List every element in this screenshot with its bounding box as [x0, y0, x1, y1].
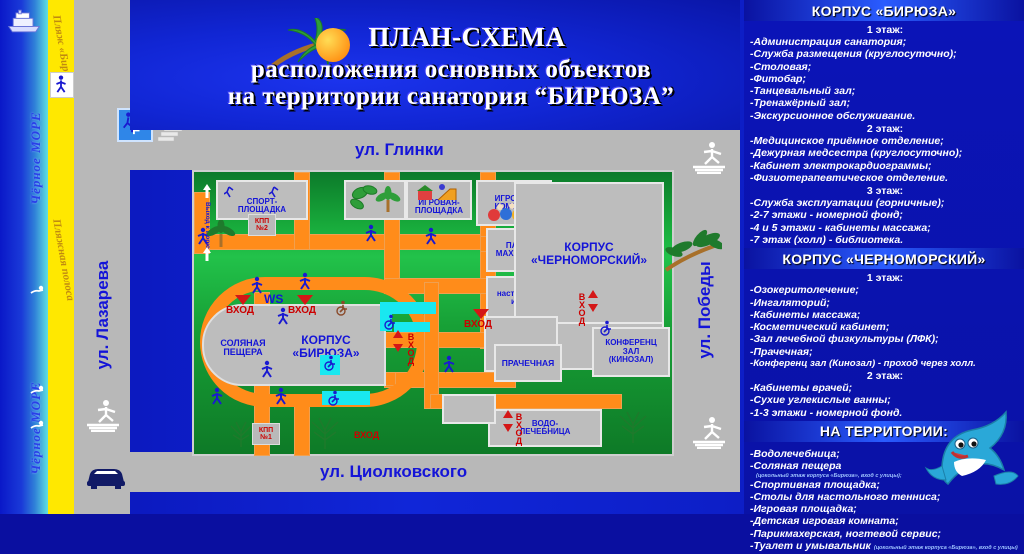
- list-item: -Детская игровая комната;: [750, 515, 1020, 527]
- ws-label: WS: [264, 292, 283, 306]
- kpp-label: №1: [260, 434, 272, 441]
- pedestrian-icon: [298, 272, 312, 290]
- list-item: -7 этаж (холл) - библиотека.: [750, 234, 1020, 246]
- list-item: -Тренажёрный зал;: [750, 97, 1020, 109]
- arrow-lr-icon: [502, 410, 514, 432]
- building-hydrotherapy-annex[interactable]: [442, 394, 496, 424]
- crosswalk-icon: [84, 398, 122, 432]
- street-label-top: ул. Глинки: [355, 140, 444, 160]
- site-map: СПОРТ- ПЛОЩАДКА ИГРОВАЯ- ПЛОЩАДКА ИГРОВА…: [192, 170, 674, 456]
- list-item: -Кабинеты массажа;: [750, 309, 1020, 321]
- list-item: -Зал лечебной физкультуры (ЛФК);: [750, 333, 1020, 345]
- path-segment: [194, 234, 496, 250]
- building-label: ЛЕЧЕБНИЦА: [520, 428, 571, 436]
- poster-title-line1: ПЛАН-СХЕМА: [162, 22, 772, 53]
- section-title: КОРПУС «ЧЕРНОМОРСКИЙ»: [782, 251, 985, 267]
- list-item: -Парикмахерская, ногтевой сервис;: [750, 528, 1020, 540]
- list-item: -Медицинское приёмное отделение;: [750, 135, 1020, 147]
- list-item: -Озокеритолечение;: [750, 284, 1020, 296]
- panel-section-title-biryuza: КОРПУС «БИРЮЗА»: [744, 0, 1024, 21]
- list-item-note: (цокольный этаж корпуса «Бирюза», вход с…: [871, 545, 1018, 551]
- pedestrian-sign: [50, 72, 74, 98]
- crosswalk-icon: [690, 415, 728, 449]
- list-item: -Столовая;: [750, 61, 1020, 73]
- panel-section-body-biryuza: 1 этаж: -Администрация санатория; -Служб…: [744, 21, 1024, 248]
- bush-icon: [224, 418, 258, 448]
- building-green-plants[interactable]: [344, 180, 406, 220]
- list-item: -Прачечная;: [750, 346, 1020, 358]
- kpp-label: №2: [256, 225, 268, 232]
- list-item: -Служба эксплуатации (горничные);: [750, 197, 1020, 209]
- swimmer-icon: [30, 285, 46, 297]
- list-item: -Косметический кабинет;: [750, 321, 1020, 333]
- floor-label: 2 этаж:: [750, 122, 1020, 135]
- entrance-label: ВХОД: [577, 292, 587, 324]
- car-icon: [84, 462, 128, 492]
- pedestrian-icon: [442, 355, 456, 373]
- pedestrian-icon: [210, 387, 224, 405]
- building-label: ПЕЩЕРА: [223, 348, 262, 357]
- arrow-down-icon: [234, 294, 252, 306]
- poster-header: ПЛАН-СХЕМА расположения основных объекто…: [130, 0, 740, 130]
- floor-label: 1 этаж:: [750, 271, 1020, 284]
- floor-label: 2 этаж:: [750, 369, 1020, 382]
- building-label: (КИНОЗАЛ): [609, 356, 653, 364]
- palm-small-icon: [206, 220, 236, 248]
- panel-section-body-chernomorsky: 1 этаж: -Озокеритолечение; -Ингаляторий;…: [744, 269, 1024, 421]
- arrow-lr-icon: [587, 290, 599, 312]
- entrance-label: ВХОД: [354, 430, 379, 440]
- bush-icon: [304, 416, 346, 450]
- list-item: -Администрация санатория;: [750, 36, 1020, 48]
- list-item: -Служба размещения (круглосуточно);: [750, 48, 1020, 60]
- pedestrian-icon: [424, 227, 438, 245]
- swimmer-icon: [30, 420, 46, 432]
- building-laundry[interactable]: ПРАЧЕЧНАЯ: [494, 344, 562, 382]
- section-title: КОРПУС «БИРЮЗА»: [812, 3, 956, 19]
- pedestrian-icon: [250, 276, 264, 294]
- palm-tree-icon: [660, 212, 722, 274]
- list-item: -Ингаляторий;: [750, 297, 1020, 309]
- entrance-label: ВХОД: [514, 412, 524, 444]
- building-label: ПЛОЩАДКА: [415, 207, 463, 215]
- list-item: -Дежурная медсестра (круглосуточно);: [750, 147, 1020, 159]
- list-item: -Кабинеты врачей;: [750, 382, 1020, 394]
- kpp-label: КПП: [255, 218, 269, 225]
- wheelchair-icon: [598, 320, 614, 336]
- list-item: -Сухие углекислые ванны;: [750, 394, 1020, 406]
- ship-icon: [6, 8, 42, 34]
- list-item: -Конференц зал (Кинозал) - проход через …: [750, 358, 1020, 369]
- list-item: -Экскурсионное обслуживание.: [750, 110, 1020, 122]
- poster-title-line2: расположения основных объектов: [146, 56, 756, 84]
- list-item: -Туалет и умывальник(цокольный этаж корп…: [750, 540, 1020, 552]
- arrow-down-icon: [296, 294, 314, 306]
- pedestrian-icon: [364, 224, 378, 242]
- entrance-label: ВХОД: [406, 332, 416, 364]
- arrow-up-icon: [202, 247, 212, 261]
- pedestrian-icon: [260, 360, 274, 378]
- list-item: -Физиотерапевтическое отделение.: [750, 172, 1020, 184]
- wheelchair-icon: [326, 390, 342, 406]
- list-item: -4 и 5 этажи - кабинеты массажа;: [750, 222, 1020, 234]
- list-item: -Танцевальный зал;: [750, 85, 1020, 97]
- arrow-lr-icon: [392, 330, 404, 352]
- poster-title-line3: на территории санатория “БИРЮЗА”: [146, 83, 756, 111]
- crosswalk-icon: [690, 140, 728, 174]
- building-label: «ЧЕРНОМОРСКИЙ»: [531, 254, 647, 267]
- info-panel: КОРПУС «БИРЮЗА» 1 этаж: -Администрация с…: [744, 0, 1024, 514]
- swimmer-icon: [30, 385, 46, 397]
- entrance-label: ВХОД: [288, 305, 316, 316]
- list-item-text: -Туалет и умывальник: [750, 540, 871, 552]
- bush-icon: [612, 410, 654, 444]
- panel-section-title-chernomorsky: КОРПУС «ЧЕРНОМОРСКИЙ»: [744, 248, 1024, 269]
- road-lazareva: [74, 0, 130, 514]
- arrow-up-icon: [202, 184, 212, 198]
- black-sea-strip: Чёрное МОРЕ Чёрное МОРЕ: [0, 0, 48, 514]
- floor-label: 3 этаж:: [750, 184, 1020, 197]
- entrance-label: ВХОД: [226, 305, 254, 316]
- floor-label: 1 этаж:: [750, 23, 1020, 36]
- kpp-2[interactable]: КПП №2: [248, 214, 276, 236]
- street-label-bottom: ул. Циолковского: [320, 462, 467, 482]
- street-label-left: ул. Лазарева: [93, 260, 113, 370]
- pedestrian-icon: [276, 307, 290, 325]
- building-label: ПРАЧЕЧНАЯ: [502, 359, 555, 368]
- pedestrian-icon: [274, 387, 288, 405]
- arrow-down-icon: [472, 308, 490, 320]
- list-item: -Фитобар;: [750, 73, 1020, 85]
- list-item: -Кабинет электрокардиограммы;: [750, 160, 1020, 172]
- wheelchair-icon: [334, 300, 350, 316]
- entrance-label: ВХОД: [464, 319, 492, 330]
- wheelchair-icon: [322, 355, 338, 371]
- building-play-ground[interactable]: ИГРОВАЯ- ПЛОЩАДКА: [406, 180, 472, 220]
- poster-root: Чёрное МОРЕ Чёрное МОРЕ Пляж «Бирюза» Пл…: [0, 0, 1024, 514]
- list-item: -2-7 этажи - номерной фонд;: [750, 209, 1020, 221]
- dolphin-icon: [924, 406, 1020, 502]
- wheelchair-icon: [382, 314, 398, 330]
- kpp-label: КПП: [259, 427, 273, 434]
- sea-label-top: Чёрное МОРЕ: [28, 98, 44, 218]
